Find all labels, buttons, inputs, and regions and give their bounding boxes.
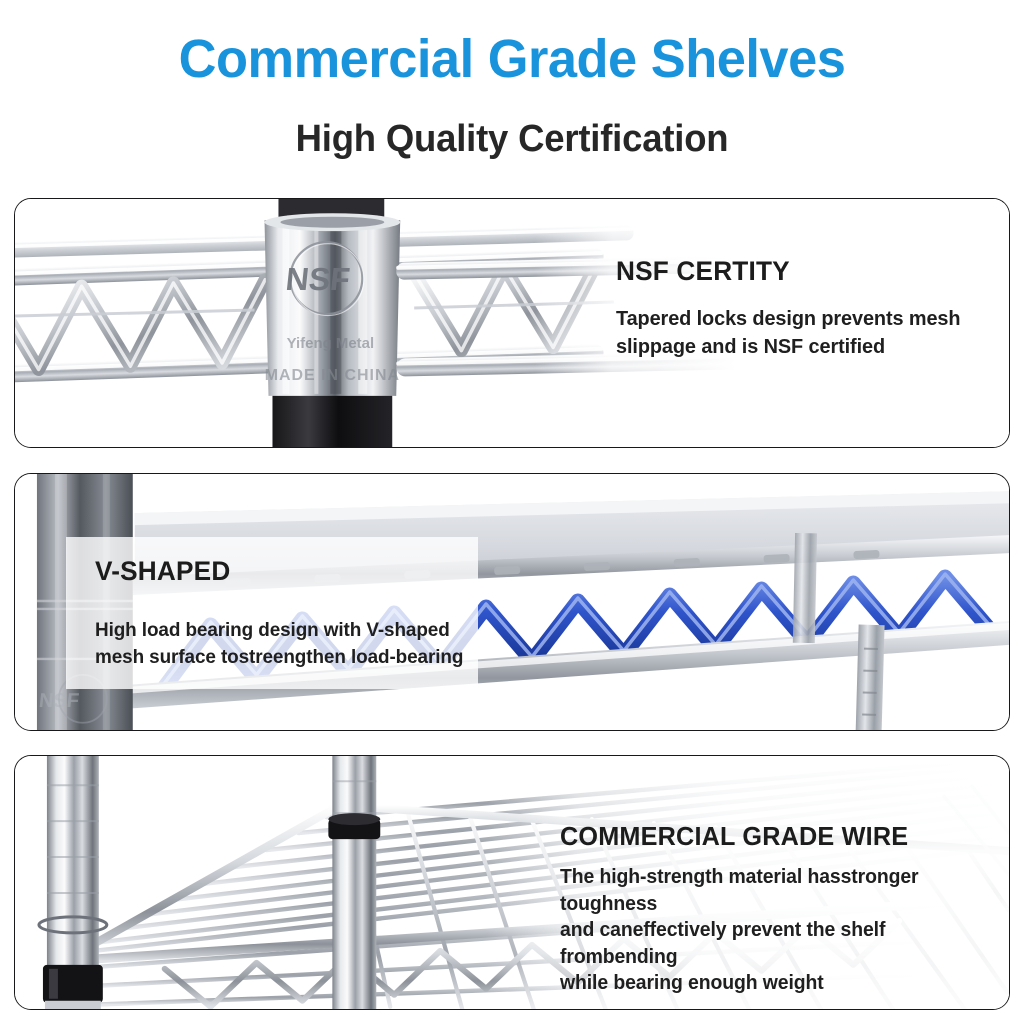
panel-1-copy: NSF CERTITY Tapered locks design prevent…: [616, 256, 996, 362]
panel-1-body: Tapered locks design prevents mesh slipp…: [616, 305, 985, 362]
panel-3-body-line-1: The high-strength material hasstronger t…: [560, 864, 1006, 917]
panel-2-heading: V-SHAPED: [95, 556, 483, 587]
panel-3-body-line-3: while bearing enough weight: [560, 970, 1006, 997]
page-subtitle: High Quality Certification: [20, 118, 1003, 161]
page-title: Commercial Grade Shelves: [15, 28, 1008, 90]
panel-2-copy: V-SHAPED High load bearing design with V…: [95, 556, 495, 671]
svg-text:NSF: NSF: [38, 690, 80, 712]
panel-3-heading: COMMERCIAL GRADE WIRE: [560, 821, 1006, 852]
panel-2-body-line-2: mesh surface tostreengthen load-bearing: [95, 644, 483, 671]
panel-2-body-line-1: High load bearing design with V-shaped: [95, 617, 483, 644]
svg-text:Yifeng Metal: Yifeng Metal: [287, 335, 375, 352]
svg-text:MADE IN CHINA: MADE IN CHINA: [265, 367, 400, 384]
panel-3-body-line-2: and caneffectively prevent the shelf fro…: [560, 917, 1006, 970]
svg-text:NSF: NSF: [284, 261, 352, 297]
panel-1-heading: NSF CERTITY: [616, 256, 985, 287]
panel-3-copy: COMMERCIAL GRADE WIRE The high-strength …: [560, 821, 1020, 997]
